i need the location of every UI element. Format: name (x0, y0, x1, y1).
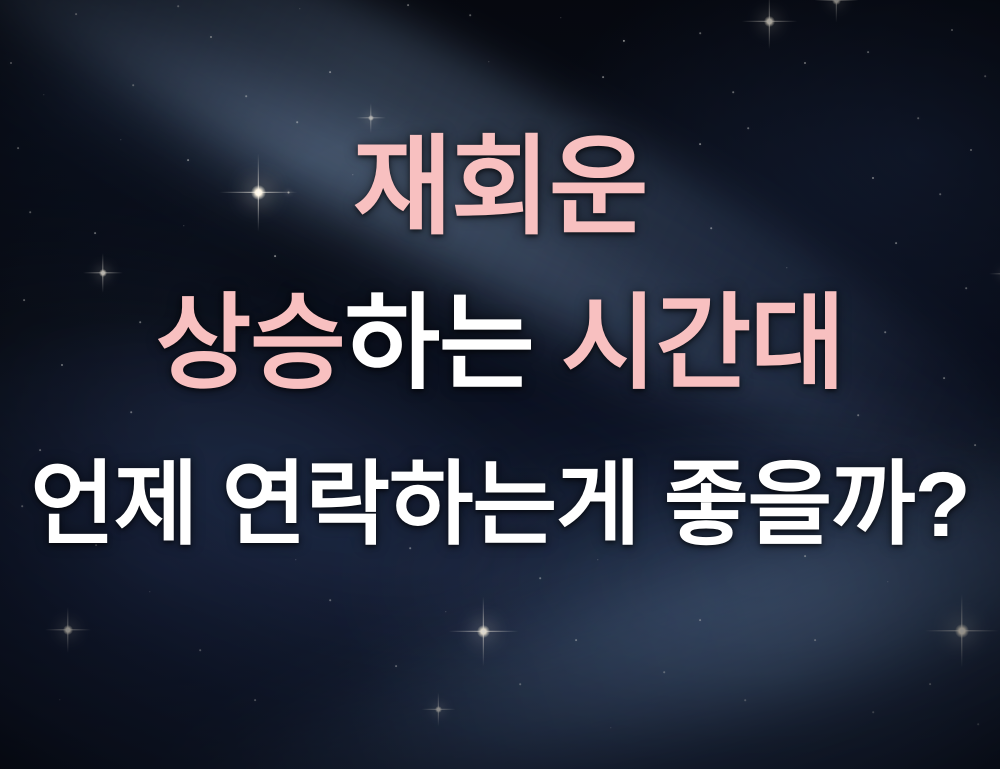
space-background (0, 0, 1000, 769)
poster-canvas: 재회운 상승하는 시간대 언제 연락하는게 좋을까? (0, 0, 1000, 769)
